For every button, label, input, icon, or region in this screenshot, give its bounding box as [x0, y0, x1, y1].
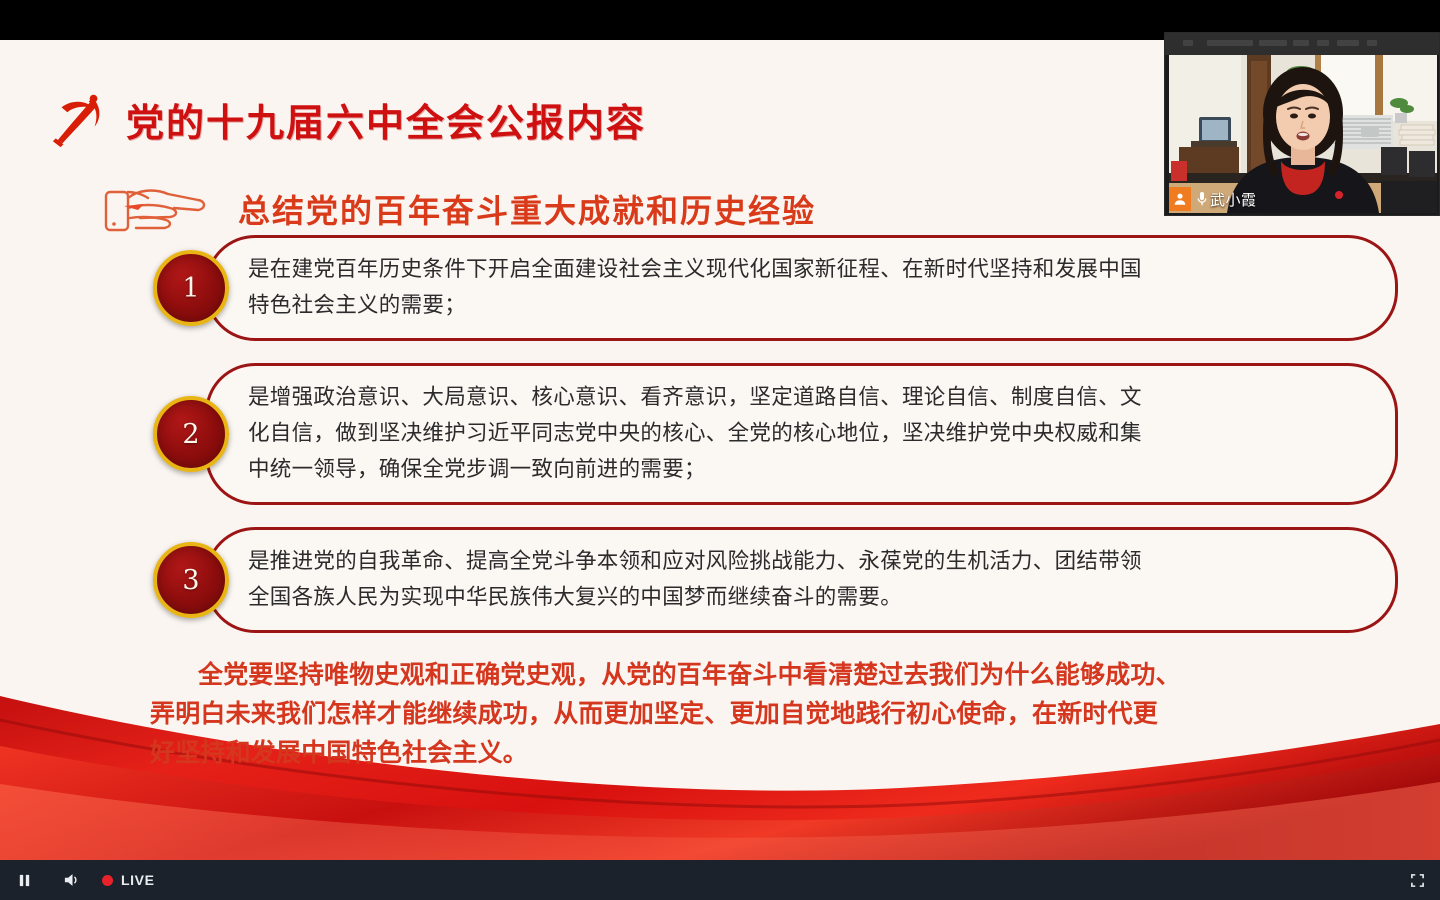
- item-number-badge: 3: [153, 542, 229, 618]
- item-text: 是推进党的自我革命、提高全党斗争本领和应对风险挑战能力、永葆党的生机活力、团结带…: [248, 544, 1142, 616]
- pip-top-strip: [1165, 33, 1439, 55]
- closing-paragraph: 全党要坚持唯物史观和正确党史观，从党的百年奋斗中看清楚过去我们为什么能够成功、 …: [150, 655, 1420, 772]
- item-number-badge: 2: [153, 396, 229, 472]
- list-item: 2 是增强政治意识、大局意识、核心意识、看齐意识，坚定道路自信、理论自信、制度自…: [0, 363, 1440, 505]
- pip-speaker-name: 武小霞: [1208, 189, 1263, 210]
- party-emblem-hammer-sickle-icon: [48, 88, 110, 150]
- item-pill: 是增强政治意识、大局意识、核心意识、看齐意识，坚定道路自信、理论自信、制度自信、…: [205, 363, 1398, 505]
- page-title: 党的十九届六中全会公报内容: [126, 92, 646, 147]
- pip-speaker-label: 武小霞: [1169, 187, 1263, 211]
- microphone-icon: [1191, 191, 1208, 207]
- live-dot-icon: [102, 875, 113, 886]
- item-number: 3: [182, 567, 199, 594]
- slide-subtitle-row: 总结党的百年奋斗重大成就和历史经验: [100, 178, 816, 240]
- item-text: 是增强政治意识、大局意识、核心意识、看齐意识，坚定道路自信、理论自信、制度自信、…: [248, 380, 1142, 488]
- item-number: 1: [182, 275, 199, 302]
- pause-button[interactable]: [0, 860, 48, 900]
- live-indicator[interactable]: LIVE: [102, 872, 155, 888]
- item-number: 2: [182, 421, 199, 448]
- volume-button[interactable]: [48, 860, 96, 900]
- item-pill: 是推进党的自我革命、提高全党斗争本领和应对风险挑战能力、永葆党的生机活力、团结带…: [205, 527, 1398, 633]
- live-label: LIVE: [121, 872, 155, 888]
- pointing-hand-icon: [100, 178, 212, 240]
- numbered-items-list: 1 是在建党百年历史条件下开启全面建设社会主义现代化国家新征程、在新时代坚持和发…: [0, 235, 1440, 655]
- fullscreen-button[interactable]: [1394, 860, 1440, 900]
- item-number-badge: 1: [153, 250, 229, 326]
- list-item: 1 是在建党百年历史条件下开启全面建设社会主义现代化国家新征程、在新时代坚持和发…: [0, 235, 1440, 341]
- item-text: 是在建党百年历史条件下开启全面建设社会主义现代化国家新征程、在新时代坚持和发展中…: [248, 252, 1142, 324]
- slide-subtitle: 总结党的百年奋斗重大成就和历史经验: [238, 186, 816, 232]
- player-control-bar: LIVE: [0, 860, 1440, 900]
- item-pill: 是在建党百年历史条件下开启全面建设社会主义现代化国家新征程、在新时代坚持和发展中…: [205, 235, 1398, 341]
- video-player-screen: 党的十九届六中全会公报内容 总结党的百年奋斗重大成就和历史经验: [0, 0, 1440, 900]
- person-icon: [1169, 187, 1191, 211]
- participant-video-thumbnail[interactable]: 武小霞: [1164, 32, 1440, 216]
- list-item: 3 是推进党的自我革命、提高全党斗争本领和应对风险挑战能力、永葆党的生机活力、团…: [0, 527, 1440, 633]
- slide-header: 党的十九届六中全会公报内容: [48, 88, 646, 150]
